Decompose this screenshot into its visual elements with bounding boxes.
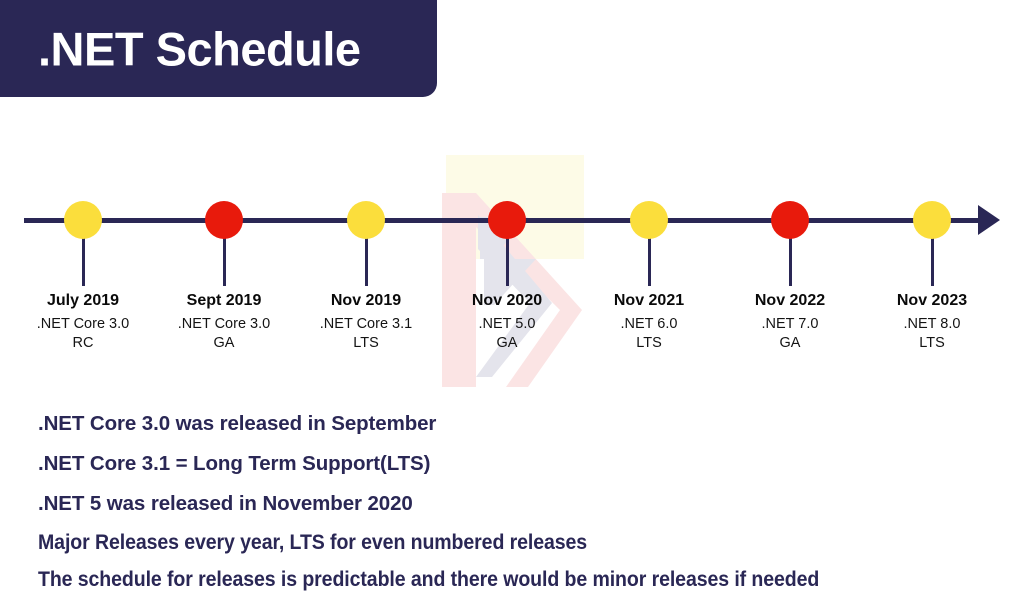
milestone-stem	[648, 220, 651, 286]
note-line: .NET Core 3.1 = Long Term Support(LTS)	[38, 444, 1013, 484]
milestone-stem	[789, 220, 792, 286]
milestone-date: Nov 2023	[847, 291, 1017, 311]
milestone-stem	[931, 220, 934, 286]
milestone-marker-yellow[interactable]	[347, 201, 385, 239]
notes-list: .NET Core 3.0 was released in September …	[38, 404, 1013, 598]
note-line: .NET 5 was released in November 2020	[38, 484, 1013, 524]
milestone-stage: GA	[705, 334, 875, 353]
milestone-labels: Nov 2023 .NET 8.0 LTS	[847, 291, 1017, 353]
milestone-release: .NET Core 3.0	[139, 315, 309, 334]
milestone-release: .NET 6.0	[564, 315, 734, 334]
milestone-labels: Nov 2021 .NET 6.0 LTS	[564, 291, 734, 353]
milestone-stem	[506, 220, 509, 286]
milestone-stage: RC	[0, 334, 168, 353]
milestone-release: .NET Core 3.0	[0, 315, 168, 334]
milestone-marker-yellow[interactable]	[630, 201, 668, 239]
milestone-labels: July 2019 .NET Core 3.0 RC	[0, 291, 168, 353]
milestone-labels: Nov 2019 .NET Core 3.1 LTS	[281, 291, 451, 353]
timeline-axis	[24, 218, 989, 223]
milestone-labels: Nov 2020 .NET 5.0 GA	[422, 291, 592, 353]
milestone-marker-red[interactable]	[488, 201, 526, 239]
milestone-stem	[82, 220, 85, 286]
timeline-arrow-icon	[978, 205, 1000, 235]
milestone-release: .NET 8.0	[847, 315, 1017, 334]
milestone-labels: Sept 2019 .NET Core 3.0 GA	[139, 291, 309, 353]
milestone-release: .NET 5.0	[422, 315, 592, 334]
milestone-date: July 2019	[0, 291, 168, 311]
note-line: .NET Core 3.0 was released in September	[38, 404, 1013, 444]
milestone-date: Nov 2020	[422, 291, 592, 311]
milestone-stage: LTS	[281, 334, 451, 353]
milestone-date: Nov 2021	[564, 291, 734, 311]
watermark-logo	[432, 155, 588, 387]
milestone-marker-red[interactable]	[771, 201, 809, 239]
milestone-release: .NET 7.0	[705, 315, 875, 334]
note-line: Major Releases every year, LTS for even …	[38, 524, 945, 561]
milestone-date: Nov 2022	[705, 291, 875, 311]
milestone-stem	[365, 220, 368, 286]
milestone-marker-yellow[interactable]	[913, 201, 951, 239]
milestone-marker-red[interactable]	[205, 201, 243, 239]
milestone-stage: LTS	[564, 334, 734, 353]
header-banner: .NET Schedule	[0, 0, 437, 97]
milestone-stage: GA	[422, 334, 592, 353]
note-line: The schedule for releases is predictable…	[38, 561, 945, 598]
milestone-date: Nov 2019	[281, 291, 451, 311]
milestone-release: .NET Core 3.1	[281, 315, 451, 334]
milestone-stage: GA	[139, 334, 309, 353]
page-title: .NET Schedule	[38, 25, 361, 72]
milestone-date: Sept 2019	[139, 291, 309, 311]
milestone-marker-yellow[interactable]	[64, 201, 102, 239]
milestone-stage: LTS	[847, 334, 1017, 353]
milestone-labels: Nov 2022 .NET 7.0 GA	[705, 291, 875, 353]
milestone-stem	[223, 220, 226, 286]
